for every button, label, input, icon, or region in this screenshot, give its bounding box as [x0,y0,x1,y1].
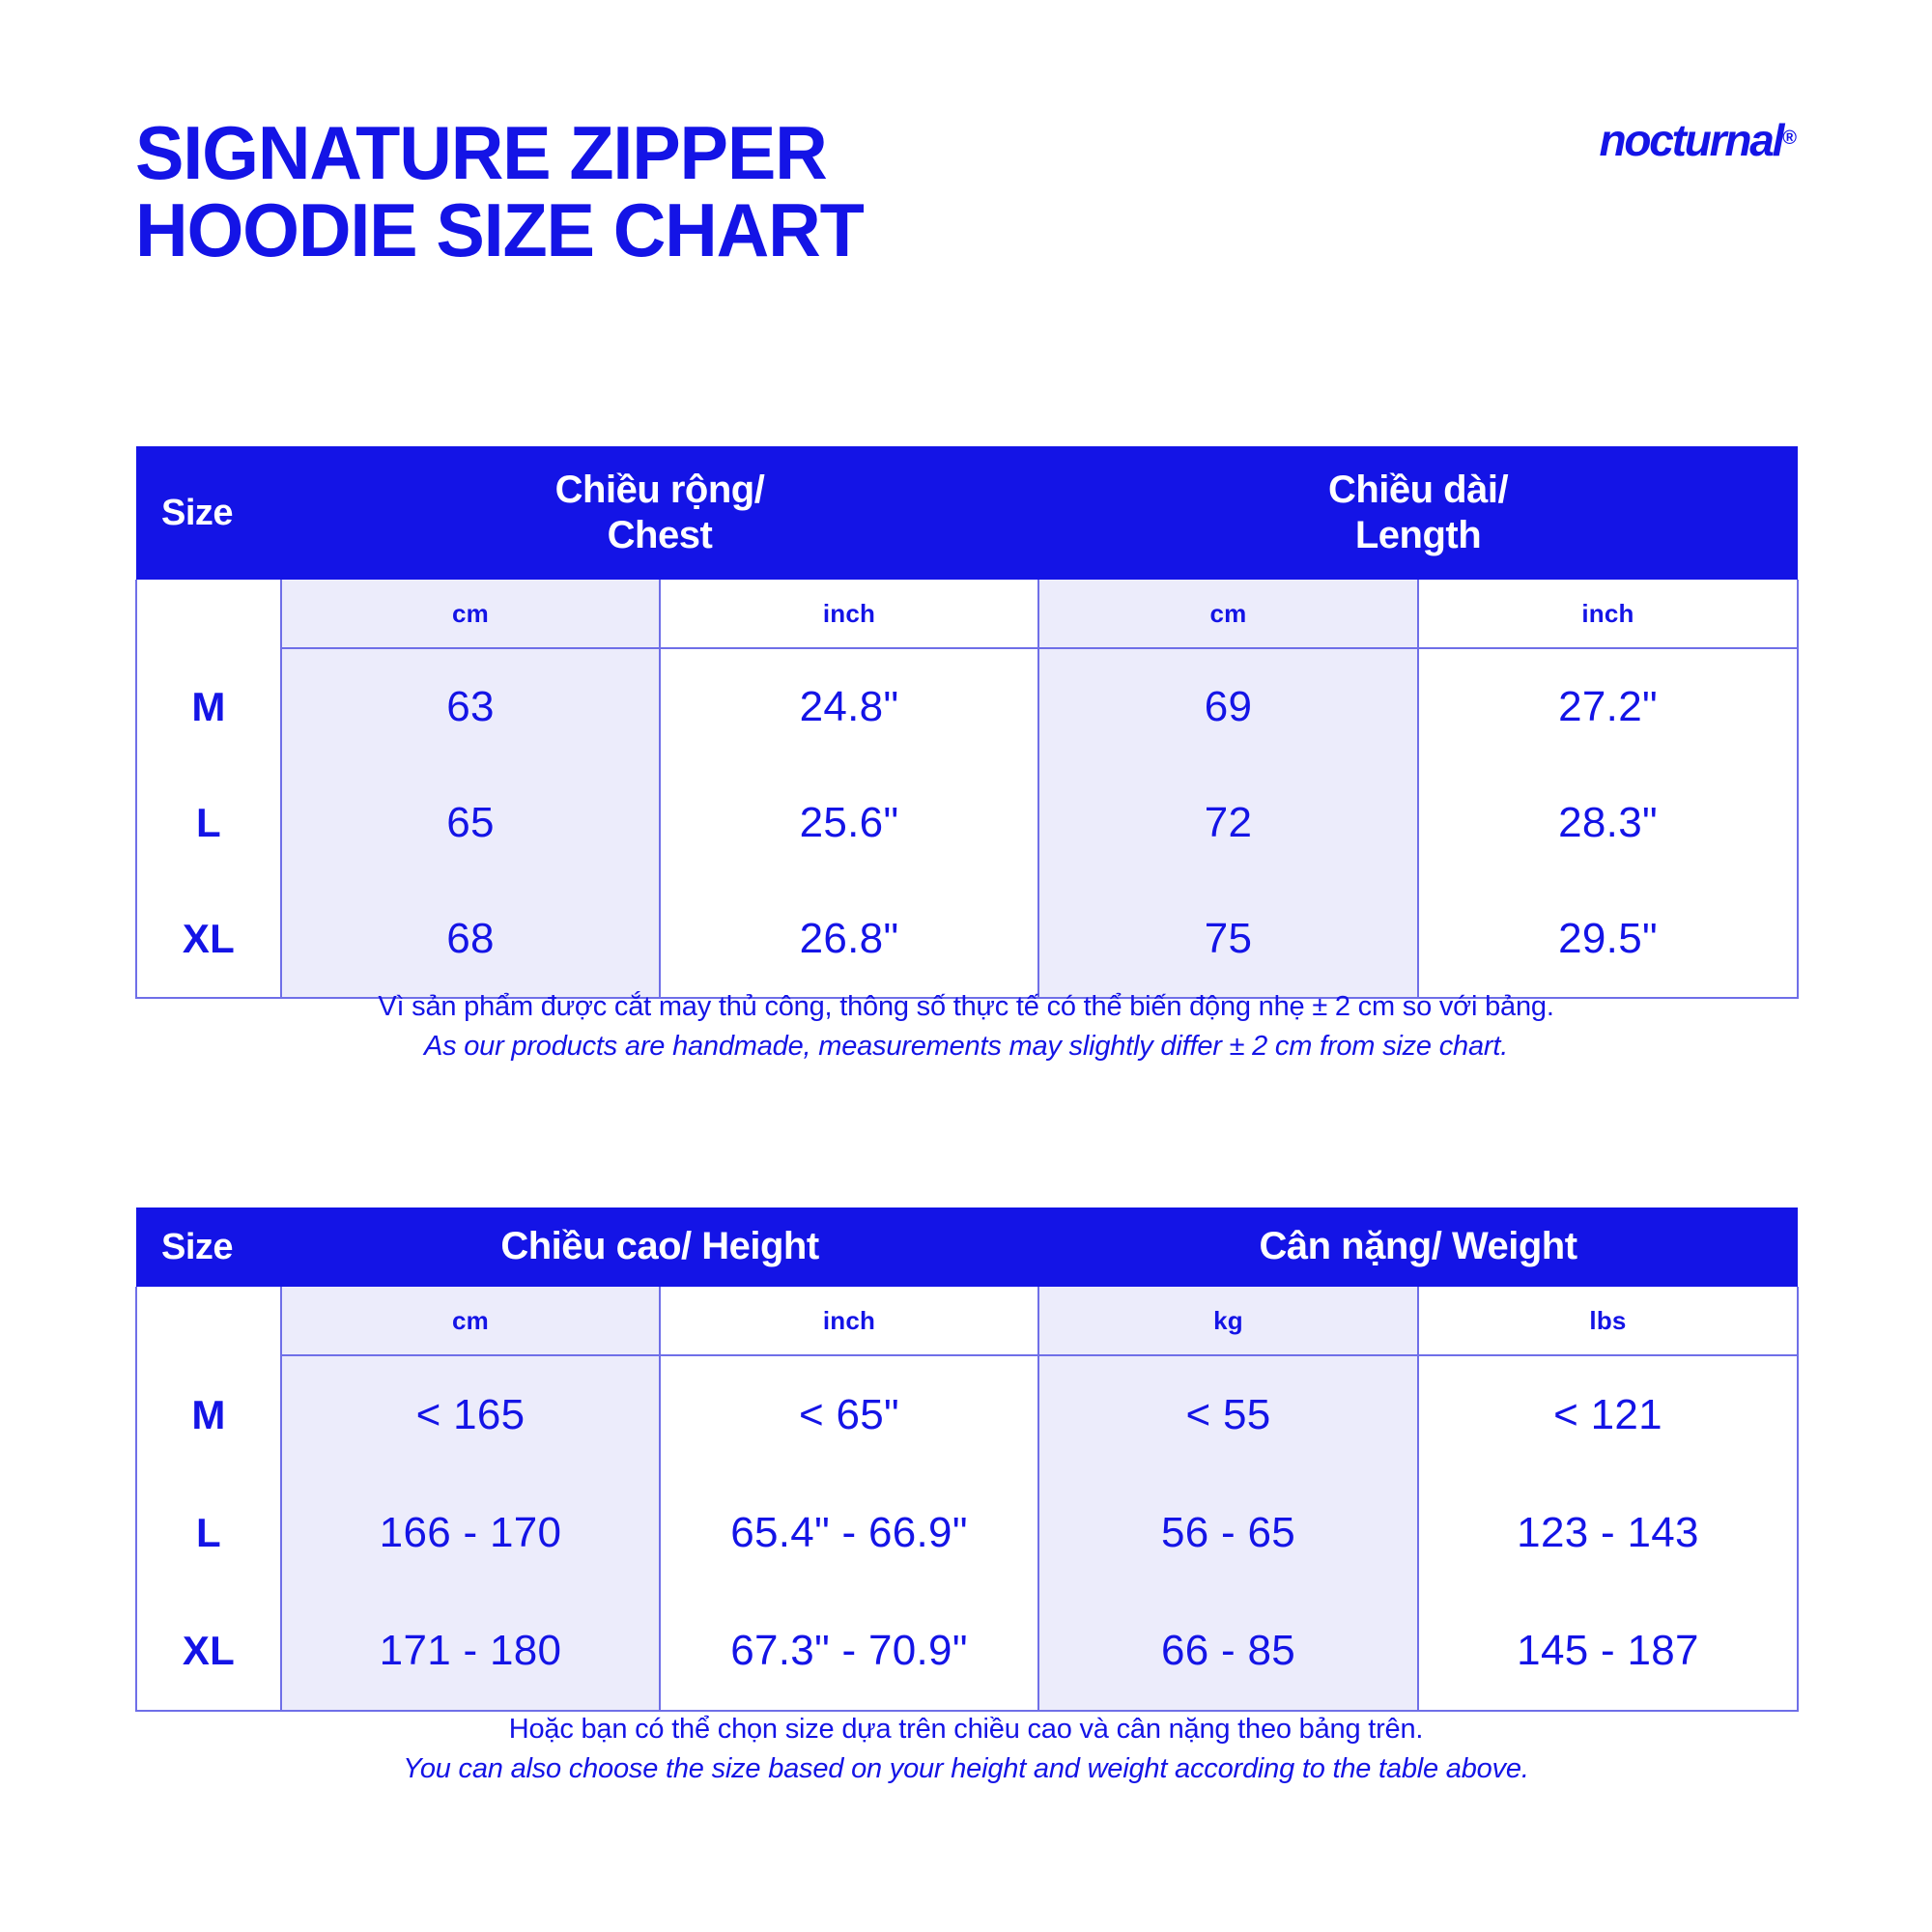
column-group-height: Chiều cao/ Height [281,1207,1038,1287]
cell-chest-inch: 26.8" [660,881,1038,998]
cell-weight-lbs: 145 - 187 [1418,1592,1798,1711]
column-header-size: Size [136,1207,281,1287]
column-group-chest: Chiều rộng/ Chest [281,446,1038,580]
cell-chest-cm: 68 [281,881,660,998]
registered-trademark-icon: ® [1782,128,1797,149]
cell-height-inch: < 65" [660,1355,1038,1474]
cell-size: M [136,648,281,765]
column-group-weight: Cân nặng/ Weight [1038,1207,1798,1287]
body-measurements-notes: Hoặc bạn có thể chọn size dựa trên chiều… [135,1710,1797,1789]
unit-header-length-inch: inch [1418,580,1798,648]
garment-measurements-table: Size Chiều rộng/ Chest Chiều dài/ Length… [135,446,1799,999]
cell-chest-cm: 63 [281,648,660,765]
unit-header-height-cm: cm [281,1287,660,1355]
cell-length-inch: 29.5" [1418,881,1798,998]
cell-size: XL [136,881,281,998]
unit-header-length-cm: cm [1038,580,1418,648]
cell-height-inch: 65.4" - 66.9" [660,1474,1038,1592]
column-header-size: Size [136,446,281,580]
size-chart-page: SIGNATURE ZIPPER HOODIE SIZE CHART noctu… [0,0,1932,1932]
table-row: XL 171 - 180 67.3" - 70.9" 66 - 85 145 -… [136,1592,1798,1711]
table-header-row: Size Chiều rộng/ Chest Chiều dài/ Length [136,446,1798,580]
cell-length-cm: 72 [1038,765,1418,881]
cell-height-cm: < 165 [281,1355,660,1474]
table-row: L 166 - 170 65.4" - 66.9" 56 - 65 123 - … [136,1474,1798,1592]
table-header-row: Size Chiều cao/ Height Cân nặng/ Weight [136,1207,1798,1287]
cell-height-cm: 171 - 180 [281,1592,660,1711]
note-vietnamese: Vì sản phẩm được cắt may thủ công, thông… [135,987,1797,1027]
page-header: SIGNATURE ZIPPER HOODIE SIZE CHART noctu… [135,0,1797,307]
garment-measurements-block: Size Chiều rộng/ Chest Chiều dài/ Length… [135,446,1797,999]
body-measurements-block: Size Chiều cao/ Height Cân nặng/ Weight … [135,1207,1797,1712]
cell-length-cm: 69 [1038,648,1418,765]
unit-header-chest-inch: inch [660,580,1038,648]
brand-logo: nocturnal® [1599,114,1797,166]
note-english: As our products are handmade, measuremen… [135,1027,1797,1066]
cell-size: M [136,1355,281,1474]
cell-weight-lbs: < 121 [1418,1355,1798,1474]
cell-weight-kg: < 55 [1038,1355,1418,1474]
cell-length-inch: 27.2" [1418,648,1798,765]
page-title: SIGNATURE ZIPPER HOODIE SIZE CHART [135,114,1747,270]
body-measurements-table: Size Chiều cao/ Height Cân nặng/ Weight … [135,1207,1799,1712]
unit-header-chest-cm: cm [281,580,660,648]
cell-chest-cm: 65 [281,765,660,881]
table-row: M < 165 < 65" < 55 < 121 [136,1355,1798,1474]
unit-header-weight-lbs: lbs [1418,1287,1798,1355]
cell-weight-kg: 66 - 85 [1038,1592,1418,1711]
garment-measurements-notes: Vì sản phẩm được cắt may thủ công, thông… [135,987,1797,1066]
cell-length-inch: 28.3" [1418,765,1798,881]
unit-spacer [136,580,281,648]
cell-length-cm: 75 [1038,881,1418,998]
cell-chest-inch: 24.8" [660,648,1038,765]
table-unit-row: cm inch kg lbs [136,1287,1798,1355]
note-english: You can also choose the size based on yo… [135,1749,1797,1789]
table-row: M 63 24.8" 69 27.2" [136,648,1798,765]
unit-spacer [136,1287,281,1355]
column-group-length: Chiều dài/ Length [1038,446,1798,580]
cell-height-cm: 166 - 170 [281,1474,660,1592]
cell-height-inch: 67.3" - 70.9" [660,1592,1038,1711]
cell-chest-inch: 25.6" [660,765,1038,881]
cell-size: L [136,765,281,881]
table-row: XL 68 26.8" 75 29.5" [136,881,1798,998]
cell-weight-lbs: 123 - 143 [1418,1474,1798,1592]
table-row: L 65 25.6" 72 28.3" [136,765,1798,881]
brand-logo-text: nocturnal [1599,115,1782,165]
cell-size: L [136,1474,281,1592]
table-unit-row: cm inch cm inch [136,580,1798,648]
cell-size: XL [136,1592,281,1711]
note-vietnamese: Hoặc bạn có thể chọn size dựa trên chiều… [135,1710,1797,1749]
unit-header-weight-kg: kg [1038,1287,1418,1355]
cell-weight-kg: 56 - 65 [1038,1474,1418,1592]
unit-header-height-inch: inch [660,1287,1038,1355]
